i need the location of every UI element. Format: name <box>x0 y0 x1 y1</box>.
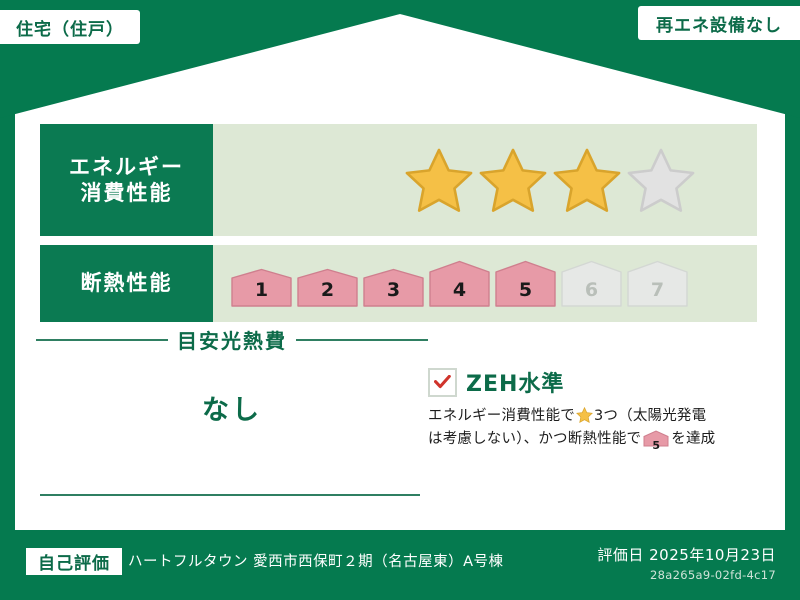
label-footer: 自己評価 ハートフルタウン 愛西市西保町２期（名古屋東）A号棟 評価日 2025… <box>0 530 800 600</box>
zeh-checkbox[interactable] <box>428 368 457 397</box>
energy-label-line1: エネルギー <box>69 154 184 180</box>
insulation-grade-5: 5 <box>494 260 557 308</box>
insulation-label: 断熱性能 <box>81 270 173 296</box>
star-filled-icon <box>552 146 622 214</box>
cost-bottom-divider <box>40 494 420 496</box>
insulation-grade-7: 7 <box>626 260 689 308</box>
energy-performance-label: 住宅（住戸） 再エネ設備なし 建築物省エネ法に基づく 省エネ性能ラベル エネルギ… <box>0 0 800 600</box>
insulation-grade-value: 7 <box>626 279 689 301</box>
insulation-grade-4: 4 <box>428 260 491 308</box>
insulation-grade-value: 5 <box>494 279 557 301</box>
inline-star-icon <box>576 407 593 423</box>
building-type-label: 住宅（住戸） <box>16 15 124 40</box>
insulation-grade-value: 2 <box>296 279 359 301</box>
energy-performance-value <box>213 124 757 236</box>
building-type-badge: 住宅（住戸） <box>0 10 140 44</box>
utility-cost-title: 目安光熱費 <box>177 325 287 354</box>
star-empty-icon <box>626 146 696 214</box>
insulation-performance-key: 断熱性能 <box>40 245 213 322</box>
cost-rule-left <box>36 339 168 341</box>
insulation-grade-value: 6 <box>560 279 623 301</box>
zeh-desc-part2: 3つ（太陽光発電 <box>594 408 706 424</box>
renewable-equipment-label: 再エネ設備なし <box>656 11 782 36</box>
insulation-performance-value: 1234567 <box>213 245 757 322</box>
inline-grade-value: 5 <box>643 437 669 455</box>
zeh-desc-part1: エネルギー消費性能で <box>428 408 575 424</box>
insulation-grade-3: 3 <box>362 268 425 308</box>
insulation-grade-1: 1 <box>230 268 293 308</box>
zeh-block: ZEH水準 エネルギー消費性能で3つ（太陽光発電は考慮しない）、かつ断熱性能で5… <box>428 366 753 456</box>
utility-cost-value: なし <box>36 388 428 427</box>
utility-cost-header: 目安光熱費 <box>36 325 428 354</box>
renewable-equipment-badge: 再エネ設備なし <box>638 6 800 40</box>
zeh-description: エネルギー消費性能で3つ（太陽光発電は考慮しない）、かつ断熱性能で5を達成 <box>428 405 753 456</box>
star-filled-icon <box>404 146 474 214</box>
insulation-grade-2: 2 <box>296 268 359 308</box>
evaluation-date: 評価日 2025年10月23日 <box>597 544 776 565</box>
self-evaluation-badge: 自己評価 <box>26 548 122 575</box>
check-icon <box>434 375 451 389</box>
cost-rule-right <box>296 339 428 341</box>
zeh-header: ZEH水準 <box>428 366 753 398</box>
inline-grade-badge: 5 <box>643 430 669 455</box>
star-rating <box>404 146 696 214</box>
insulation-grade-value: 4 <box>428 279 491 301</box>
zeh-desc-part4: を達成 <box>671 431 715 447</box>
zeh-title: ZEH水準 <box>466 366 564 398</box>
evaluation-id: 28a265a9-02fd-4c17 <box>650 568 776 582</box>
insulation-grade-value: 3 <box>362 279 425 301</box>
energy-performance-row: エネルギー 消費性能 <box>40 124 757 236</box>
property-name: ハートフルタウン 愛西市西保町２期（名古屋東）A号棟 <box>128 550 504 574</box>
insulation-performance-row: 断熱性能 1234567 <box>40 245 757 322</box>
zeh-desc-part3: は考慮しない）、かつ断熱性能で <box>428 431 641 447</box>
insulation-grade-6: 6 <box>560 260 623 308</box>
star-filled-icon <box>478 146 548 214</box>
insulation-grade-value: 1 <box>230 279 293 301</box>
energy-label-line2: 消費性能 <box>81 180 173 206</box>
insulation-grade-scale: 1234567 <box>230 260 689 308</box>
energy-performance-key: エネルギー 消費性能 <box>40 124 213 236</box>
